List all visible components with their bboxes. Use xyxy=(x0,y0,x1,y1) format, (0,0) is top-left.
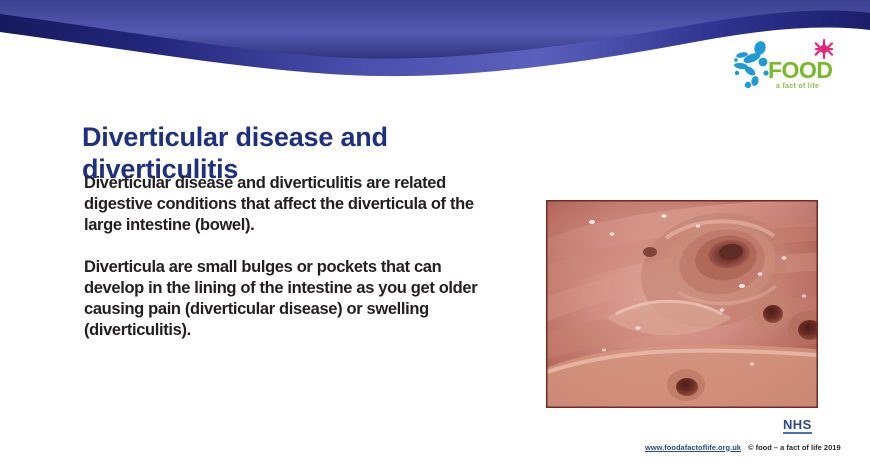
paragraph-definition: Diverticular disease and diverticulitis … xyxy=(84,173,489,235)
splash-icon xyxy=(734,40,769,89)
star-icon xyxy=(814,39,833,59)
endoscopy-image-graphic xyxy=(546,200,818,408)
endoscopy-diverticula-photo xyxy=(546,200,818,408)
brand-wordmark: FOOD xyxy=(768,57,832,83)
footer-credit-bar: www.foodafactoflife.org.uk © food – a fa… xyxy=(645,440,860,454)
brand-tagline: a fact of life xyxy=(776,83,819,90)
footer-copyright: © food – a fact of life 2019 xyxy=(748,443,841,452)
footer-website-link[interactable]: www.foodafactoflife.org.uk xyxy=(645,443,741,452)
nhs-logo: NHS xyxy=(783,418,812,434)
body-copy: Diverticular disease and diverticulitis … xyxy=(84,173,489,340)
food-a-fact-of-life-logo: FOOD a fact of life xyxy=(730,38,850,96)
slide-canvas: FOOD a fact of life Diverticular disease… xyxy=(0,0,870,470)
paragraph-diverticula: Diverticula are small bulges or pockets … xyxy=(84,257,489,340)
